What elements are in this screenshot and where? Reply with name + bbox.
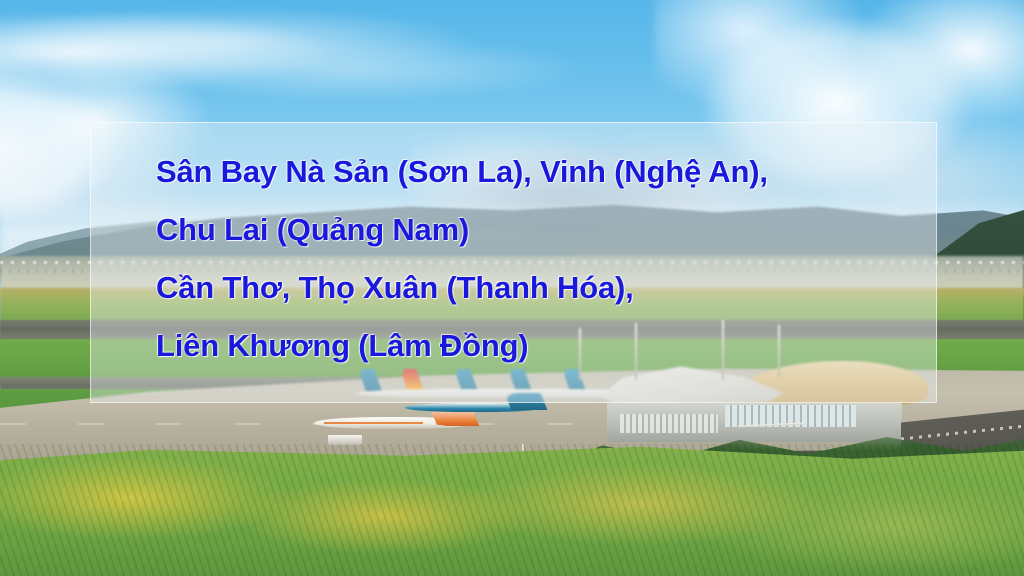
caption-line-1: Sân Bay Nà Sản (Sơn La), Vinh (Nghệ An),: [156, 143, 926, 201]
caption-line-4: Liên Khương (Lâm Đồng): [156, 317, 926, 375]
wing: [358, 424, 447, 429]
foreground-vegetation-texture: [0, 444, 1024, 576]
terminal-window-band: [620, 414, 718, 432]
caption-line-2: Chu Lai (Quảng Nam): [156, 201, 926, 259]
screenshot-canvas: Sân Bay Nà Sản (Sơn La), Vinh (Nghệ An),…: [0, 0, 1024, 576]
livery-stripe: [324, 422, 423, 424]
caption-overlay-panel: Sân Bay Nà Sản (Sơn La), Vinh (Nghệ An),…: [90, 122, 937, 403]
caption-line-3: Cần Thơ, Thọ Xuân (Thanh Hóa),: [156, 259, 926, 317]
caption-text-block: Sân Bay Nà Sản (Sơn La), Vinh (Nghệ An),…: [156, 143, 926, 375]
